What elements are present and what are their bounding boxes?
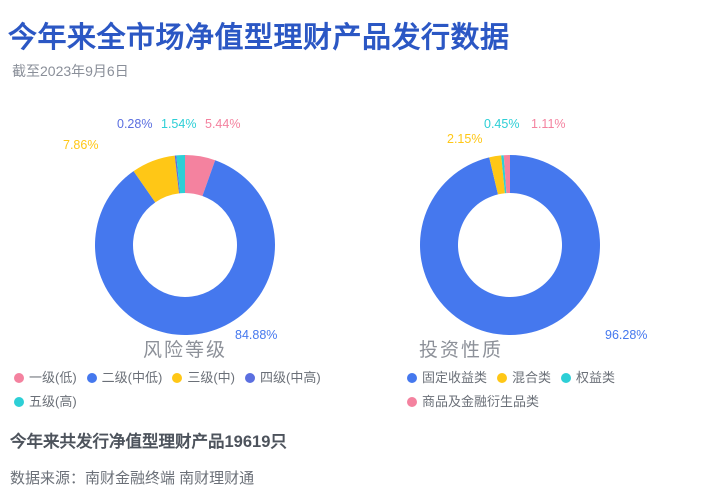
legend-label: 混合类 [512,368,551,388]
donut-svg-investment-nature [351,100,702,360]
chart-panel-risk-level: 风险等级 7.86% 0.28% 1.54% 5.44% 84.88% 一级(低… [0,100,351,420]
slice-value-label-level4: 0.28% [117,117,152,131]
donut-chart-risk-level [0,100,351,360]
page-subtitle: 截至2023年9月6日 [12,61,129,81]
legend-color-dot-icon [14,397,24,407]
slice-value-label-level2: 84.88% [235,328,277,342]
donut-slices-risk-level [95,155,275,335]
legend-color-dot-icon [172,373,182,383]
donut-center-label-investment-nature: 投资性质 [391,335,531,362]
page-title: 今年来全市场净值型理财产品发行数据 [8,14,510,56]
legend-color-dot-icon [14,373,24,383]
footer-source: 数据来源：南财金融终端 南财理财通 [10,467,254,488]
legend-item-risk-2[interactable]: 二级(中低) [87,368,163,388]
slice-value-label-level3: 7.86% [63,138,98,152]
legend-item-risk-5[interactable]: 五级(高) [14,392,77,412]
legend-color-dot-icon [407,397,417,407]
legend-label: 二级(中低) [102,368,163,388]
legend-label: 五级(高) [29,392,77,412]
legend-color-dot-icon [87,373,97,383]
slice-value-label-fixed-income: 96.28% [605,328,647,342]
slice-value-label-level1: 5.44% [205,117,240,131]
donut-chart-investment-nature [351,100,702,360]
legend-color-dot-icon [497,373,507,383]
legend-item-nature-2[interactable]: 混合类 [497,368,551,388]
donut-slices-investment-nature [420,155,600,335]
donut-center-label-risk-level: 风险等级 [115,335,255,362]
legend-label: 商品及金融衍生品类 [422,392,539,412]
legend-color-dot-icon [561,373,571,383]
slice-value-label-mixed: 2.15% [447,132,482,146]
slice-value-label-commodity: 1.11% [531,117,566,131]
legend-item-nature-3[interactable]: 权益类 [561,368,615,388]
legend-investment-nature: 固定收益类混合类权益类商品及金融衍生品类 [407,368,702,412]
legend-item-risk-1[interactable]: 一级(低) [14,368,77,388]
legend-item-nature-4[interactable]: 商品及金融衍生品类 [407,392,539,412]
slice-value-label-level5: 1.54% [161,117,196,131]
legend-label: 权益类 [576,368,615,388]
chart-panel-investment-nature: 投资性质 2.15% 0.45% 1.11% 96.28% 固定收益类混合类权益… [351,100,702,420]
legend-label: 三级(中) [187,368,235,388]
legend-risk-level: 一级(低)二级(中低)三级(中)四级(中高)五级(高) [14,368,349,412]
donut-svg-risk-level [0,100,351,360]
legend-item-risk-4[interactable]: 四级(中高) [245,368,321,388]
footer-summary: 今年来共发行净值型理财产品19619只 [10,428,287,452]
legend-label: 四级(中高) [260,368,321,388]
legend-color-dot-icon [245,373,255,383]
legend-label: 固定收益类 [422,368,487,388]
legend-item-risk-3[interactable]: 三级(中) [172,368,235,388]
legend-color-dot-icon [407,373,417,383]
legend-label: 一级(低) [29,368,77,388]
legend-item-nature-1[interactable]: 固定收益类 [407,368,487,388]
slice-value-label-equity: 0.45% [484,117,519,131]
infographic-page: 今年来全市场净值型理财产品发行数据 截至2023年9月6日 风险等级 7.86%… [0,0,702,504]
